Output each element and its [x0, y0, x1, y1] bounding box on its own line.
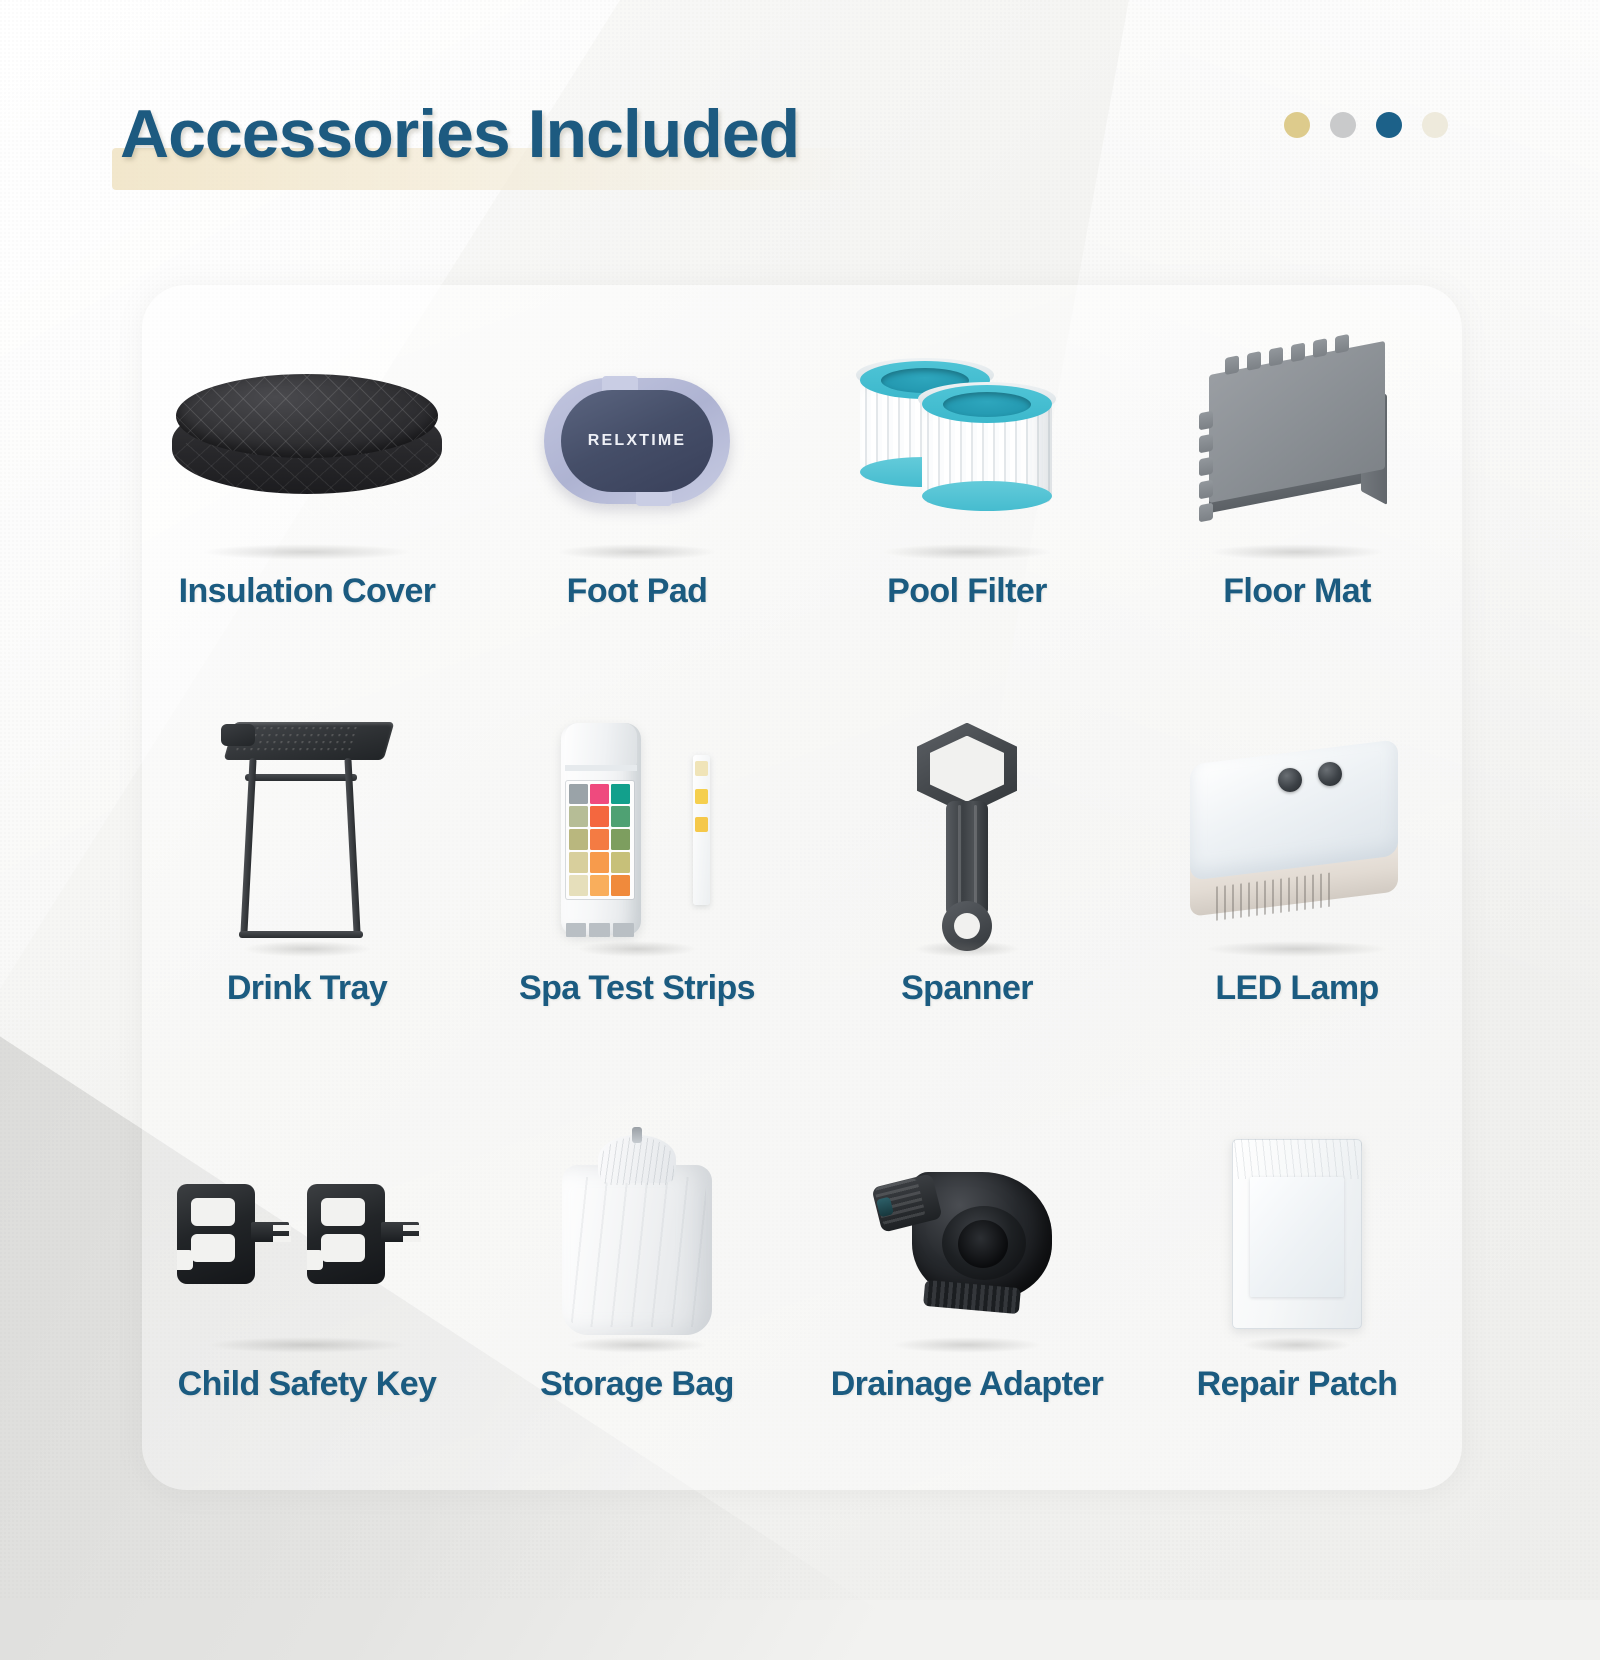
accessories-grid: Insulation Cover RelxTime Foot Pad — [142, 300, 1462, 1490]
accessory-item-repair-patch[interactable]: Repair Patch — [1132, 1093, 1462, 1490]
insulation-cover-icon — [142, 316, 472, 566]
floor-mat-icon — [1132, 316, 1462, 566]
accessory-item-child-safety-key[interactable]: Child Safety Key — [142, 1093, 472, 1490]
accessory-label: Child Safety Key — [178, 1365, 437, 1404]
foot-pad-icon: RelxTime — [472, 316, 802, 566]
storage-bag-icon — [472, 1109, 802, 1359]
dot-gray — [1330, 112, 1356, 138]
spanner-icon — [802, 713, 1132, 963]
page-title: Accessories Included — [120, 100, 799, 168]
accessory-label: Pool Filter — [887, 572, 1047, 611]
pool-filter-icon — [802, 316, 1132, 566]
decorative-dots — [1284, 112, 1448, 138]
accessory-label: Drink Tray — [227, 969, 387, 1008]
dot-cream — [1422, 112, 1448, 138]
accessory-label: Floor Mat — [1223, 572, 1371, 611]
accessory-label: LED Lamp — [1215, 969, 1378, 1008]
accessory-item-led-lamp[interactable]: LED Lamp — [1132, 697, 1462, 1094]
dot-gold — [1284, 112, 1310, 138]
accessory-item-pool-filter[interactable]: Pool Filter — [802, 300, 1132, 697]
led-lamp-icon — [1132, 713, 1462, 963]
drink-tray-icon — [142, 713, 472, 963]
accessory-label: Spanner — [901, 969, 1033, 1008]
header: Accessories Included — [120, 100, 799, 168]
accessory-item-spanner[interactable]: Spanner — [802, 697, 1132, 1094]
accessory-item-foot-pad[interactable]: RelxTime Foot Pad — [472, 300, 802, 697]
spa-test-strips-icon — [472, 713, 802, 963]
drainage-adapter-icon — [802, 1109, 1132, 1359]
accessory-label: Repair Patch — [1197, 1365, 1398, 1404]
accessory-item-insulation-cover[interactable]: Insulation Cover — [142, 300, 472, 697]
accessory-label: Insulation Cover — [179, 572, 436, 611]
accessory-label: Storage Bag — [540, 1365, 734, 1404]
accessory-item-drink-tray[interactable]: Drink Tray — [142, 697, 472, 1094]
accessory-label: Spa Test Strips — [519, 969, 755, 1008]
foot-pad-brand-text: RelxTime — [588, 432, 687, 450]
accessory-label: Drainage Adapter — [831, 1365, 1104, 1404]
accessory-label: Foot Pad — [567, 572, 708, 611]
accessory-item-spa-test-strips[interactable]: Spa Test Strips — [472, 697, 802, 1094]
accessory-item-storage-bag[interactable]: Storage Bag — [472, 1093, 802, 1490]
repair-patch-icon — [1132, 1109, 1462, 1359]
dot-blue — [1376, 112, 1402, 138]
accessory-item-floor-mat[interactable]: Floor Mat — [1132, 300, 1462, 697]
accessory-item-drainage-adapter[interactable]: Drainage Adapter — [802, 1093, 1132, 1490]
child-safety-key-icon — [142, 1109, 472, 1359]
